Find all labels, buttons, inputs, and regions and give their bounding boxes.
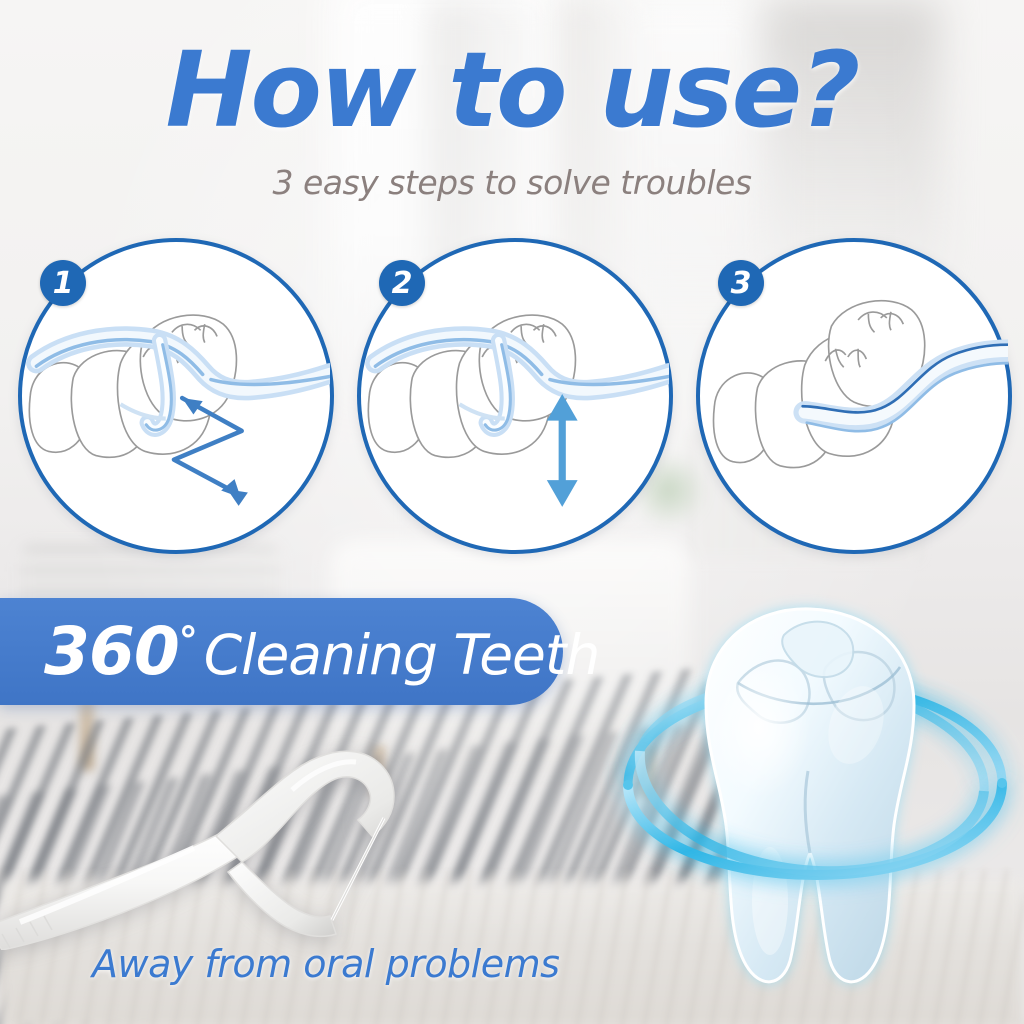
steps-row: 1 xyxy=(0,238,1024,558)
product-infographic-poster: How to use? 3 easy steps to solve troubl… xyxy=(0,0,1024,1024)
step-circle-3: 3 xyxy=(696,238,1012,554)
floss-pick-photo xyxy=(0,700,450,950)
cleaning-banner-text: 360 ° Cleaning Teeth xyxy=(0,613,599,690)
bottom-caption: Away from oral problems xyxy=(92,942,559,986)
step-badge-1: 1 xyxy=(40,260,86,306)
step-circle-1: 1 xyxy=(18,238,334,554)
banner-degree-symbol: ° xyxy=(179,619,198,663)
banner-value: 360 xyxy=(44,613,179,690)
banner-label: Cleaning Teeth xyxy=(204,623,600,687)
step-badge-3: 3 xyxy=(718,260,764,306)
cleaning-banner: 360 ° Cleaning Teeth xyxy=(0,598,563,705)
molar-tooth-icon xyxy=(588,575,1024,1015)
page-subtitle: 3 easy steps to solve troubles xyxy=(0,163,1024,202)
step-badge-2: 2 xyxy=(379,260,425,306)
page-title: How to use? xyxy=(0,38,1024,142)
step-circle-2: 2 xyxy=(357,238,673,554)
